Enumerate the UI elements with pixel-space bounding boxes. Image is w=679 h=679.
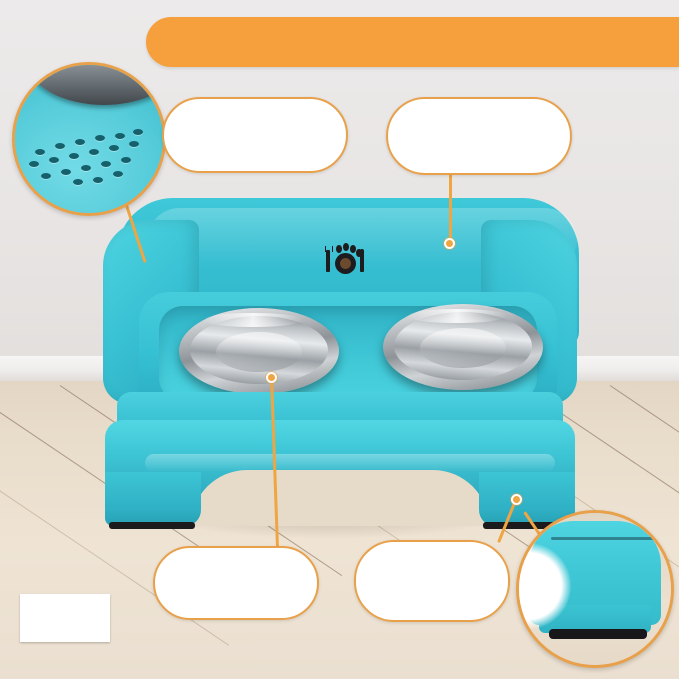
callout-rubber-feet (354, 540, 510, 622)
made-in-usa-badge (20, 594, 114, 656)
inset-drainage-holes (12, 62, 166, 216)
banner-title (146, 17, 679, 67)
callout-raised-walls (386, 97, 572, 175)
stainless-bowl-left (179, 308, 339, 394)
connector-line-raised-walls (449, 174, 452, 242)
knife-icon (360, 249, 364, 272)
header-banner (146, 17, 679, 67)
inset-rubber-foot (549, 629, 647, 639)
inset-rubber-feet (516, 510, 674, 668)
stainless-bowl-right (383, 304, 543, 390)
connector-dot-steel-bowls (266, 372, 277, 383)
connector-dot-raised-walls (444, 238, 455, 249)
connector-dot-rubber-feet (511, 494, 522, 505)
fork-icon (326, 250, 330, 272)
feeder-upper-unit (103, 196, 577, 402)
paw-and-utensils-icon (323, 244, 367, 276)
rubber-foot-left (109, 522, 195, 529)
callout-stainless-steel-bowls (153, 546, 319, 620)
product-illustration (95, 196, 585, 526)
callout-drainage-holes (162, 97, 348, 173)
neater-feeder-logo (255, 240, 435, 280)
base-leg-left (105, 472, 201, 526)
infographic-canvas (0, 0, 679, 679)
paw-pad-icon (335, 253, 356, 274)
base-arch-cutout (191, 470, 489, 526)
united-states-flag-icon (20, 594, 110, 642)
